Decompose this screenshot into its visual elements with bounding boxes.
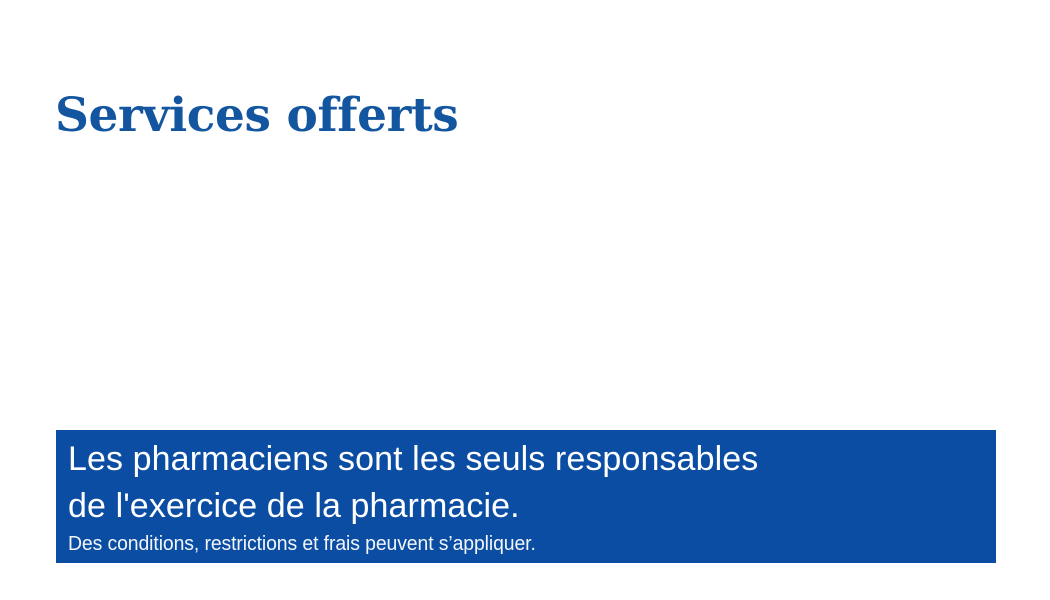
callout-headline-line-1: Les pharmaciens sont les seuls responsab… [68, 436, 983, 483]
slide-canvas: Services offerts Les pharmaciens sont le… [0, 0, 1050, 600]
callout-banner: Les pharmaciens sont les seuls responsab… [56, 430, 996, 563]
callout-headline: Les pharmaciens sont les seuls responsab… [68, 436, 983, 530]
callout-subline: Des conditions, restrictions et frais pe… [68, 531, 956, 557]
callout-headline-line-2: de l'exercice de la pharmacie. [68, 483, 983, 530]
page-title: Services offerts [55, 92, 458, 139]
